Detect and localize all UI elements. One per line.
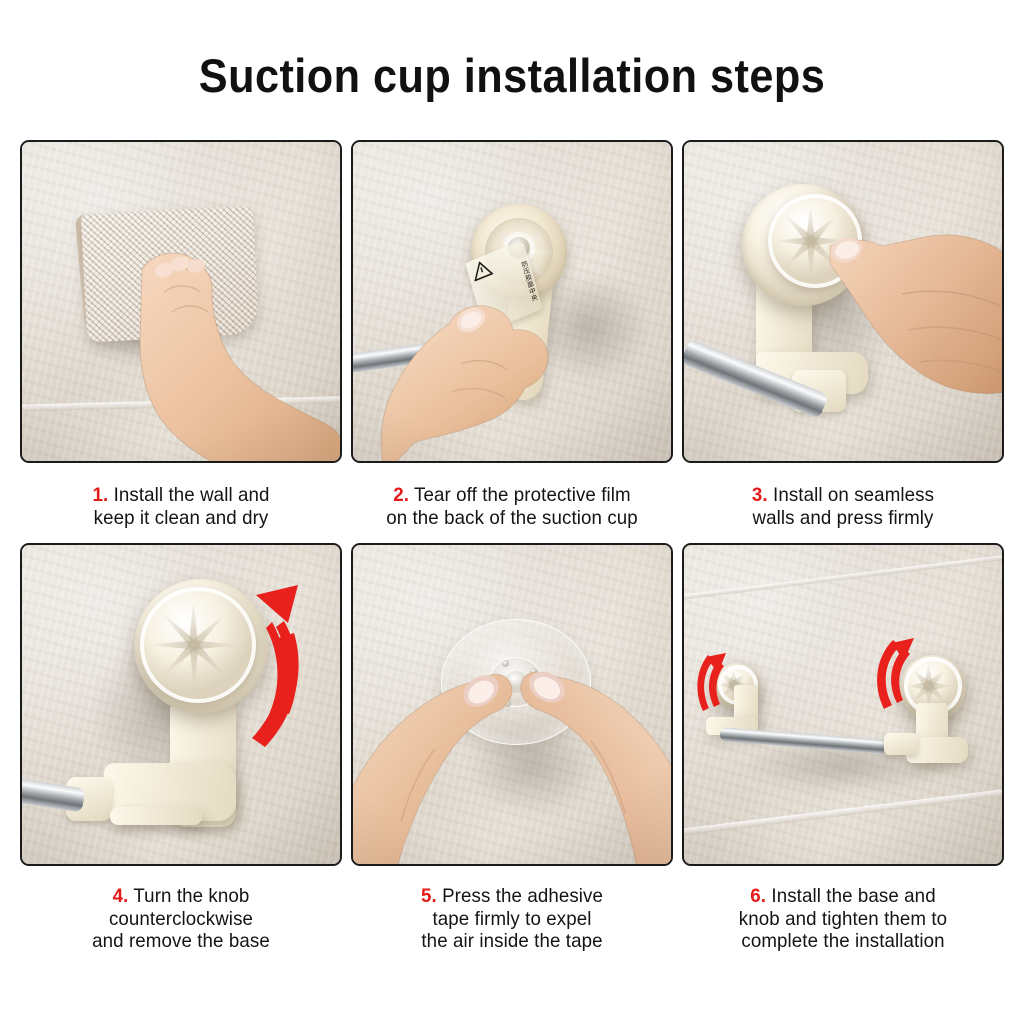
step-card-1: 1. Install the wall and keep it clean an… xyxy=(20,140,342,529)
step-text-3-line1: Install on seamless xyxy=(773,484,934,506)
step-text-1-line2: keep it clean and dry xyxy=(94,507,269,529)
step-text-3-line2: walls and press firmly xyxy=(752,507,933,529)
step-text-4-line2: counterclockwise xyxy=(109,908,253,930)
two-thumbs-pressing xyxy=(353,545,673,866)
step-photo-2: 防压胶面中央 xyxy=(351,140,673,463)
hand-wiping xyxy=(22,142,342,463)
step-photo-1 xyxy=(20,140,342,463)
step-text-6-line3: complete the installation xyxy=(741,930,944,952)
step-caption-6: 6. Install the base and knob and tighten… xyxy=(688,885,997,953)
step-text-5-line1: Press the adhesive xyxy=(442,885,603,907)
step-card-5: 5. Press the adhesive tape firmly to exp… xyxy=(351,543,673,953)
rotation-arrow-icon xyxy=(22,545,342,866)
step-number-1: 1. xyxy=(92,484,108,506)
step-text-5-line3: the air inside the tape xyxy=(421,930,602,952)
step-text-6-line2: knob and tighten them to xyxy=(739,908,947,930)
step-caption-2: 2. Tear off the protective film on the b… xyxy=(357,484,666,529)
hand-pressing-knob xyxy=(684,142,1004,463)
step-photo-3 xyxy=(682,140,1004,463)
step-text-4-line1: Turn the knob xyxy=(133,885,249,907)
step-text-1-line1: Install the wall and xyxy=(114,484,270,506)
step-text-5-line2: tape firmly to expel xyxy=(432,908,591,930)
tighten-arrows-icon xyxy=(684,545,1004,866)
step-caption-3: 3. Install on seamless walls and press f… xyxy=(688,484,997,529)
step-photo-6 xyxy=(682,543,1004,866)
steps-grid: 1. Install the wall and keep it clean an… xyxy=(20,140,1004,953)
step-caption-1: 1. Install the wall and keep it clean an… xyxy=(26,484,335,529)
step-photo-4 xyxy=(20,543,342,866)
step-number-2: 2. xyxy=(393,484,409,506)
step-card-3: 3. Install on seamless walls and press f… xyxy=(682,140,1004,529)
step-number-4: 4. xyxy=(113,885,129,907)
step-number-3: 3. xyxy=(752,484,768,506)
step-number-6: 6. xyxy=(750,885,766,907)
step-text-2-line2: on the back of the suction cup xyxy=(386,507,638,529)
step-card-4: 4. Turn the knob counterclockwise and re… xyxy=(20,543,342,953)
page-title: Suction cup installation steps xyxy=(41,48,983,103)
infographic-page: Suction cup installation steps xyxy=(0,0,1024,1024)
step-card-2: 防压胶面中央 xyxy=(351,140,673,529)
hand-holding-mount xyxy=(353,142,673,463)
step-text-4-line3: and remove the base xyxy=(92,930,270,952)
step-text-6-line1: Install the base and xyxy=(771,885,935,907)
step-photo-5 xyxy=(351,543,673,866)
step-caption-5: 5. Press the adhesive tape firmly to exp… xyxy=(357,885,666,953)
step-text-2-line1: Tear off the protective film xyxy=(414,484,631,506)
step-caption-4: 4. Turn the knob counterclockwise and re… xyxy=(26,885,335,953)
step-card-6: 6. Install the base and knob and tighten… xyxy=(682,543,1004,953)
step-number-5: 5. xyxy=(421,885,437,907)
